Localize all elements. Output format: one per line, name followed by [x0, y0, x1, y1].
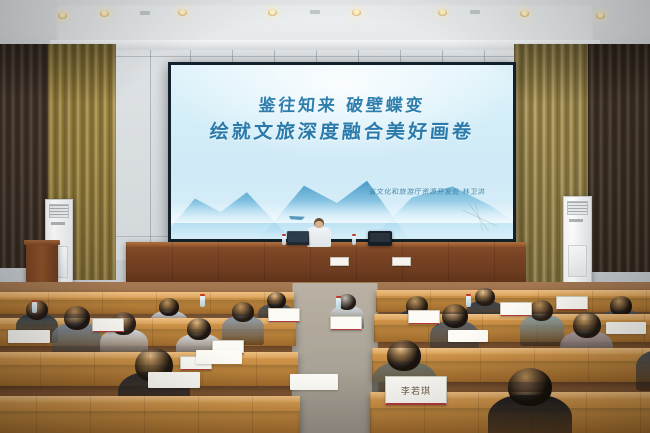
name-placard [268, 308, 300, 322]
notebook-paper [148, 372, 200, 388]
notebook-paper [8, 330, 50, 343]
water-bottle-icon [336, 298, 341, 309]
notebook-paper [448, 330, 488, 342]
desk-props [0, 0, 650, 433]
name-placard [92, 318, 124, 332]
name-placard [500, 302, 532, 316]
name-placard [408, 310, 440, 324]
notebook-paper [606, 322, 646, 334]
water-bottle-icon [466, 296, 471, 307]
conference-hall-photo: 鉴往知来 破壁蝶变 绘就文旅深度融合美好画卷 省文化和旅游厅资源开发处 林卫洪 [0, 0, 650, 433]
water-bottle-icon [200, 296, 205, 307]
name-placard [330, 316, 362, 330]
name-placard [556, 296, 588, 310]
notebook-paper [196, 350, 242, 364]
water-bottle-icon [32, 302, 37, 313]
notebook-paper [290, 374, 338, 390]
